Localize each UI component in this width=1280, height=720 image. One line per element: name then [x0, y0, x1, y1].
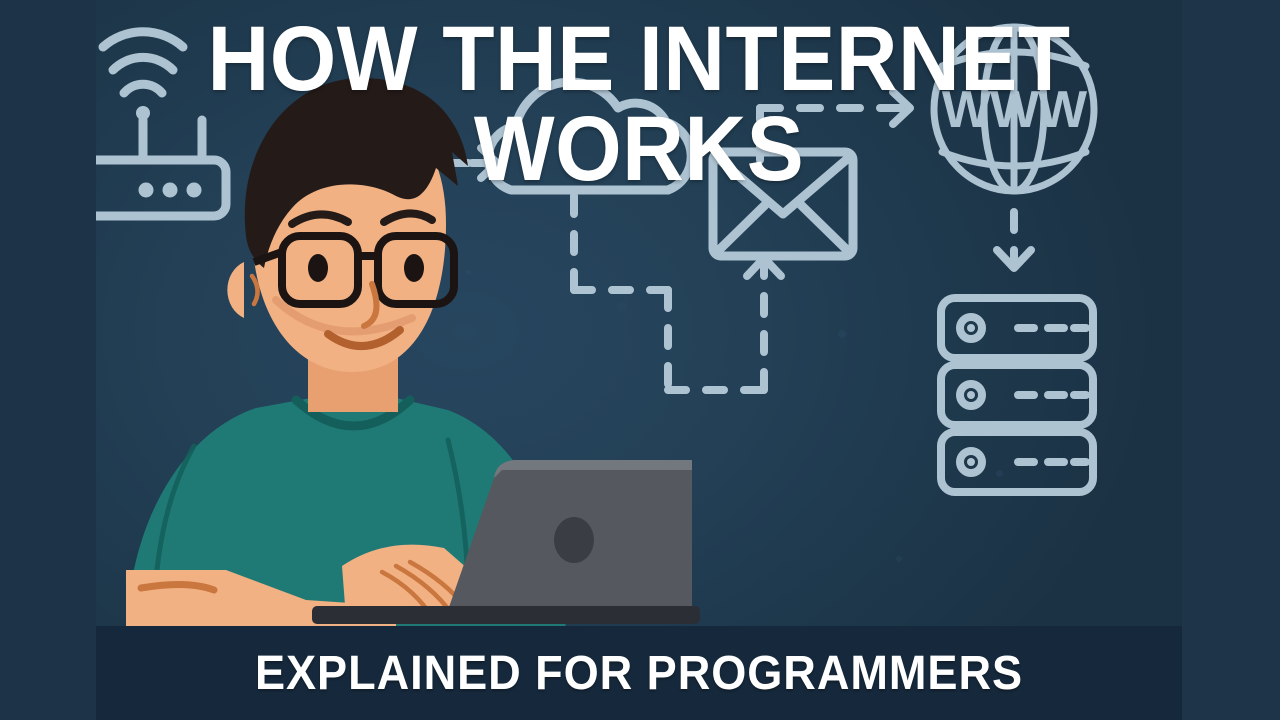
laptop-keyboard-base	[312, 606, 700, 624]
eye-right	[404, 254, 424, 282]
laptop-logo	[554, 517, 594, 563]
person-head	[227, 78, 468, 372]
subtitle-text: EXPLAINED FOR PROGRAMMERS	[129, 626, 1150, 720]
video-thumbnail: WWW	[0, 0, 1280, 720]
person-at-laptop	[96, 0, 1182, 720]
letterbox-bar-left	[0, 0, 96, 720]
letterbox-bar-right	[1182, 0, 1280, 720]
subtitle-bar: EXPLAINED FOR PROGRAMMERS	[96, 626, 1182, 720]
eye-left	[308, 254, 328, 282]
artwork-canvas: WWW	[96, 0, 1182, 720]
